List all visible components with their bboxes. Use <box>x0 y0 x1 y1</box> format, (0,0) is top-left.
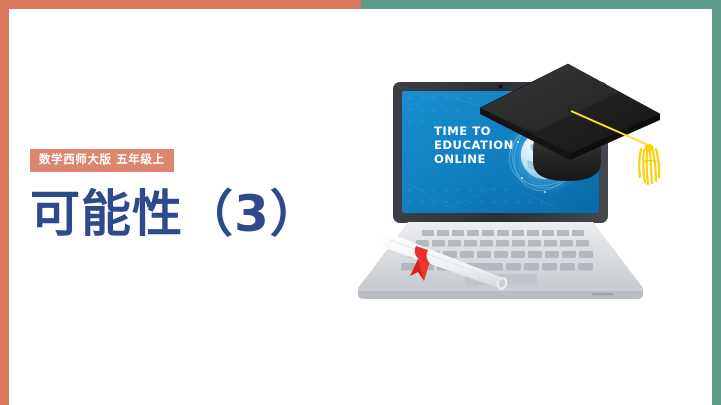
screen-line-1: TIME TO <box>434 124 491 138</box>
top-bar-teal <box>361 0 721 9</box>
right-bar-teal <box>712 0 721 405</box>
top-bar-salmon <box>0 0 361 9</box>
left-bar-salmon <box>0 0 9 405</box>
title-block: 数学西师大版 五年级上 可能性（3） <box>30 148 321 240</box>
subject-badge: 数学西师大版 五年级上 <box>30 149 174 172</box>
tassel-fringe <box>639 149 659 184</box>
screen-line-2: EDUCATION <box>434 138 514 152</box>
online-education-illustration: TIME TO EDUCATION ONLINE <box>330 50 710 350</box>
page-title: 可能性（3） <box>30 188 321 240</box>
screen-line-3: ONLINE <box>434 152 486 166</box>
slide-canvas: 数学西师大版 五年级上 可能性（3） <box>0 0 721 405</box>
